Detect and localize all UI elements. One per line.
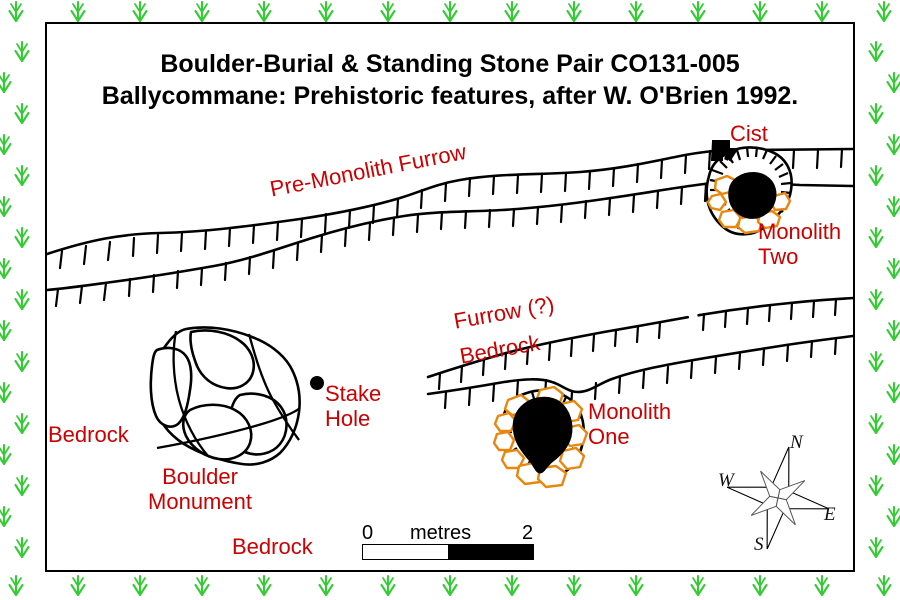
site-plan-figure: Boulder-Burial & Standing Stone Pair CO1…: [0, 0, 900, 600]
scale-bar-labels: 0 metres 2: [362, 522, 534, 544]
compass-rose: N E S W: [712, 432, 852, 564]
monolith-one-feature: [494, 387, 587, 487]
scale-segment-white: [363, 545, 448, 559]
label-boulder-monument: Boulder Monument: [140, 465, 260, 514]
label-monolith-one: Monolith One: [588, 400, 671, 449]
label-stake-hole-line1: Stake: [325, 382, 381, 407]
label-bedrock-bottom: Bedrock: [232, 535, 313, 560]
compass-rose-icon: [712, 432, 852, 564]
compass-label-east: E: [824, 504, 836, 526]
label-monolith-two: Monolith Two: [758, 220, 841, 269]
stake-hole-marker: [311, 377, 324, 390]
label-stake-hole-line2: Hole: [325, 407, 381, 432]
scale-label-start: 0: [362, 522, 373, 545]
title-line-1: Boulder-Burial & Standing Stone Pair CO1…: [45, 48, 855, 80]
label-monolith-one-line1: Monolith: [588, 400, 671, 425]
compass-label-north: N: [790, 432, 803, 454]
boulder-monument-feature: [151, 327, 300, 464]
label-monolith-two-line1: Monolith: [758, 220, 841, 245]
label-bedrock-left: Bedrock: [48, 423, 129, 448]
compass-label-west: W: [718, 470, 734, 492]
monolith-two-stone: [729, 173, 776, 219]
scale-segment-black: [448, 545, 533, 559]
boulder-stone-4: [183, 405, 251, 460]
label-boulder-monument-line2: Monument: [140, 490, 260, 515]
figure-title: Boulder-Burial & Standing Stone Pair CO1…: [45, 48, 855, 112]
label-monolith-one-line2: One: [588, 425, 671, 450]
label-boulder-monument-line1: Boulder: [140, 465, 260, 490]
title-line-2: Ballycommane: Prehistoric features, afte…: [45, 80, 855, 112]
scale-label-end: 2: [522, 522, 533, 545]
label-stake-hole: Stake Hole: [325, 382, 381, 431]
label-monolith-two-line2: Two: [758, 245, 841, 270]
scale-bar: 0 metres 2: [362, 522, 534, 560]
label-cist: Cist: [730, 122, 768, 147]
scale-bar-body: [362, 544, 534, 560]
compass-label-south: S: [754, 534, 764, 556]
scale-label-unit: metres: [410, 522, 471, 545]
